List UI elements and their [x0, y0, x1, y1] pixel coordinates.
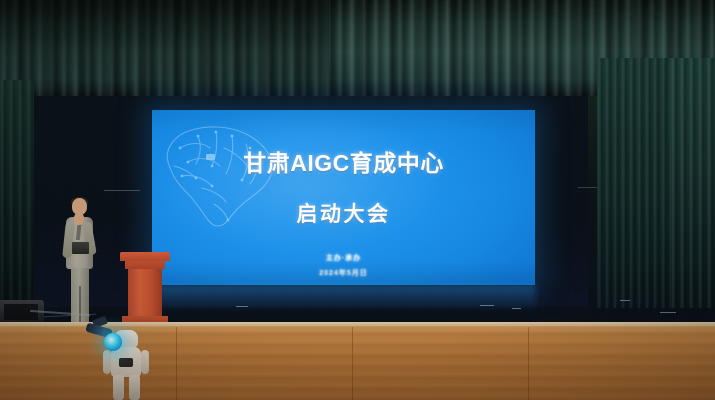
- apron-seam: [528, 327, 529, 400]
- stage-photo-scene: 甘肃AIGC育成中心 启动大会 主办·承办 2024年5月日: [0, 0, 715, 400]
- apron-seam: [176, 327, 177, 400]
- robot-chest-panel: [119, 358, 133, 367]
- robot-glowing-sensor-orb: [104, 333, 122, 351]
- slide-text-block: 甘肃AIGC育成中心 启动大会 主办·承办 2024年5月日: [152, 110, 535, 285]
- robot-left-leg: [113, 375, 124, 400]
- slide-subtitle: 启动大会: [297, 198, 391, 228]
- back-wall-seam: [104, 190, 140, 191]
- presenter-leg-seam: [79, 286, 81, 323]
- slide-meta-line-2: 2024年5月日: [319, 268, 367, 278]
- far-right-curtain: [671, 58, 715, 308]
- apron-seam: [352, 327, 353, 400]
- slide-meta-line-1: 主办·承办: [326, 253, 361, 263]
- floor-highlight: [236, 306, 248, 307]
- presenter-documents: [72, 242, 89, 254]
- speaking-podium: [120, 252, 170, 330]
- led-presentation-screen: 甘肃AIGC育成中心 启动大会 主办·承办 2024年5月日: [152, 110, 535, 285]
- podium-neck: [125, 261, 165, 269]
- floor-highlight: [660, 312, 676, 313]
- robot-right-leg: [129, 375, 140, 400]
- slide-meta-block: 主办·承办 2024年5月日: [319, 253, 367, 278]
- slide-title: 甘肃AIGC育成中心: [243, 144, 444, 178]
- floor-highlight: [620, 300, 630, 301]
- presenter-figure: [60, 198, 98, 330]
- floor-highlight: [480, 305, 494, 306]
- floor-highlight: [512, 308, 521, 309]
- podium-top: [120, 252, 170, 261]
- podium-body: [128, 269, 162, 316]
- left-side-curtain: [0, 80, 34, 305]
- presenter-hands: [74, 213, 84, 225]
- robot-left-arm: [103, 350, 111, 374]
- robot-right-arm: [141, 350, 149, 374]
